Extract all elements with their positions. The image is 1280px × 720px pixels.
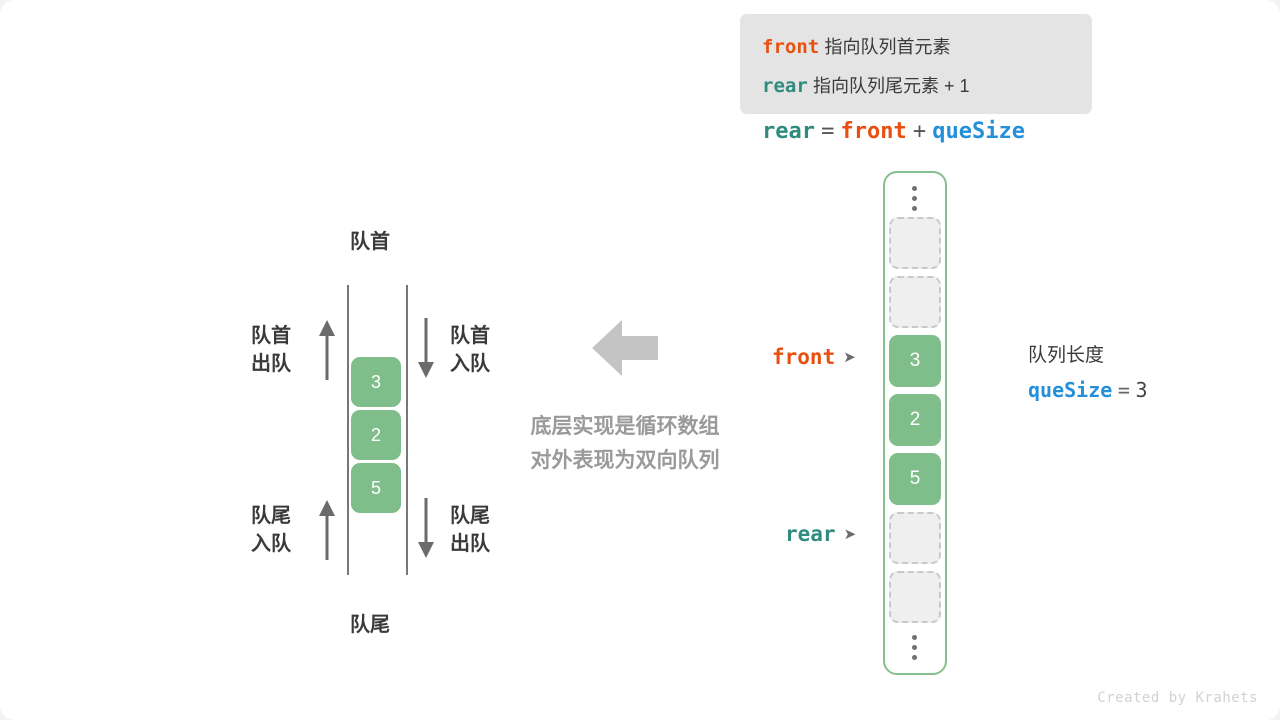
- front-pointer: front ➤: [772, 345, 856, 369]
- head-dequeue-line1: 队首: [251, 322, 291, 350]
- circular-array-container: 3 2 5: [883, 171, 947, 675]
- queue-size-note: 队列长度 queSize = 3: [1028, 340, 1148, 403]
- deque-tail-label: 队尾: [350, 611, 390, 639]
- diagram-canvas: front 指向队列首元素 rear 指向队列尾元素 + 1 rear = fr…: [0, 0, 1280, 720]
- arrow-down-head-enqueue-icon: [415, 318, 437, 380]
- formula-rear: rear: [762, 119, 815, 144]
- vertical-ellipsis-top-icon: [912, 186, 918, 211]
- rear-arrowhead-icon: ➤: [844, 527, 857, 542]
- head-enqueue-line2: 入队: [450, 350, 490, 378]
- arrow-down-tail-dequeue-icon: [415, 498, 437, 560]
- formula-quesize: queSize: [932, 119, 1025, 144]
- array-cell-4: 5: [889, 453, 941, 505]
- tail-dequeue-label: 队尾 出队: [450, 502, 490, 558]
- queue-size-var: queSize: [1028, 378, 1112, 402]
- tail-dequeue-line1: 队尾: [450, 502, 490, 530]
- formula-expression: rear = front + queSize: [762, 118, 1025, 144]
- tail-enqueue-label: 队尾 入队: [251, 502, 291, 558]
- queue-size-equals: =: [1118, 378, 1130, 402]
- array-cell-5: [889, 512, 941, 564]
- queue-size-expression: queSize = 3: [1028, 378, 1148, 403]
- formula-front: front: [840, 119, 906, 144]
- queue-size-title: 队列长度: [1028, 340, 1148, 367]
- array-cell-2: 3: [889, 335, 941, 387]
- head-dequeue-line2: 出队: [251, 350, 291, 378]
- tail-enqueue-line2: 入队: [251, 530, 291, 558]
- legend-desc-front: 指向队列首元素: [824, 37, 950, 57]
- deque-cell-0: 3: [351, 357, 401, 407]
- deque-cell-2: 5: [351, 463, 401, 513]
- center-note-line2: 对外表现为双向队列: [503, 444, 747, 478]
- head-enqueue-label: 队首 入队: [450, 322, 490, 378]
- legend-term-rear: rear: [762, 75, 808, 97]
- arrow-up-tail-enqueue-icon: [316, 498, 338, 560]
- rear-pointer: rear ➤: [785, 522, 856, 546]
- legend-term-front: front: [762, 36, 819, 58]
- deque-rail-left: [347, 285, 349, 575]
- front-arrowhead-icon: ➤: [843, 350, 856, 365]
- head-dequeue-label: 队首 出队: [251, 322, 291, 378]
- deque-head-label: 队首: [350, 228, 390, 256]
- array-cell-3: 2: [889, 394, 941, 446]
- deque-rail-right: [406, 285, 408, 575]
- center-note: 底层实现是循环数组 对外表现为双向队列: [503, 410, 747, 478]
- front-pointer-label: front: [772, 345, 835, 369]
- head-enqueue-line1: 队首: [450, 322, 490, 350]
- legend-row-rear: rear 指向队列尾元素 + 1: [762, 67, 1092, 106]
- vertical-ellipsis-bottom-icon: [912, 635, 918, 660]
- center-note-line1: 底层实现是循环数组: [503, 410, 747, 444]
- deque-cell-1: 2: [351, 410, 401, 460]
- tail-enqueue-line1: 队尾: [251, 502, 291, 530]
- formula-equals: =: [821, 119, 834, 144]
- arrow-up-head-dequeue-icon: [316, 318, 338, 380]
- array-cell-6: [889, 571, 941, 623]
- legend-row-front: front 指向队列首元素: [762, 28, 1092, 67]
- big-left-arrow-icon: [592, 318, 658, 378]
- array-cell-1: [889, 276, 941, 328]
- tail-dequeue-line2: 出队: [450, 530, 490, 558]
- legend-desc-rear: 指向队列尾元素 + 1: [813, 76, 970, 96]
- queue-size-value: 3: [1135, 378, 1147, 402]
- rear-pointer-label: rear: [785, 522, 836, 546]
- legend-box: front 指向队列首元素 rear 指向队列尾元素 + 1: [740, 14, 1092, 114]
- credit-text: Created by Krahets: [1097, 690, 1258, 706]
- array-cell-0: [889, 217, 941, 269]
- formula-plus: +: [913, 119, 926, 144]
